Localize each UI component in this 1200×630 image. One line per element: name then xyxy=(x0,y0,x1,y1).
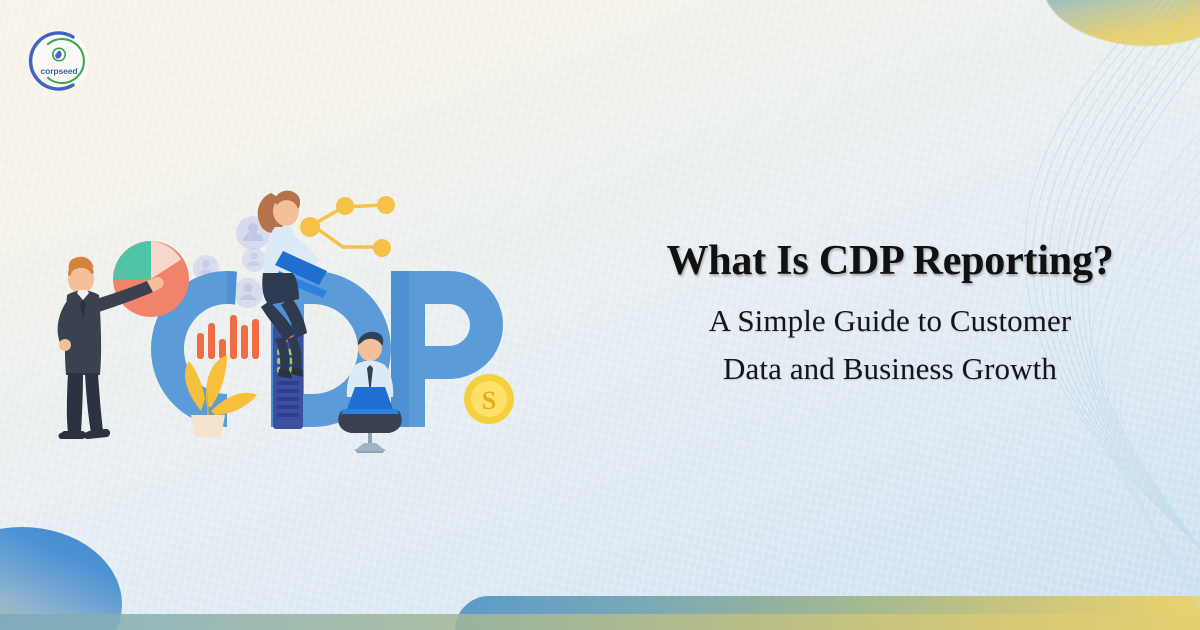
standing-businessman xyxy=(58,257,164,439)
page-subtitle: A Simple Guide to Customer Data and Busi… xyxy=(600,297,1180,393)
cdp-illustration: S xyxy=(55,175,615,465)
logo-wordmark: corpseed xyxy=(28,30,90,92)
page-title: What Is CDP Reporting? xyxy=(600,238,1180,285)
coin-icon: S xyxy=(464,374,514,424)
headline-block: What Is CDP Reporting? A Simple Guide to… xyxy=(600,238,1180,393)
node-graph-icon xyxy=(300,196,395,257)
user-bubble-icon xyxy=(233,278,263,308)
user-bubble-icon xyxy=(242,248,266,272)
decorative-blob-top-right xyxy=(1042,0,1200,46)
banner-canvas: corpseed xyxy=(0,0,1200,630)
decorative-bottom-edge xyxy=(0,614,1200,630)
pie-chart-icon xyxy=(113,241,189,317)
subtitle-line-1: A Simple Guide to Customer xyxy=(600,297,1180,345)
bar-chart-icon xyxy=(197,315,259,359)
subtitle-line-2: Data and Business Growth xyxy=(600,345,1180,393)
svg-text:S: S xyxy=(482,386,496,415)
corpseed-logo[interactable]: corpseed xyxy=(28,30,90,92)
